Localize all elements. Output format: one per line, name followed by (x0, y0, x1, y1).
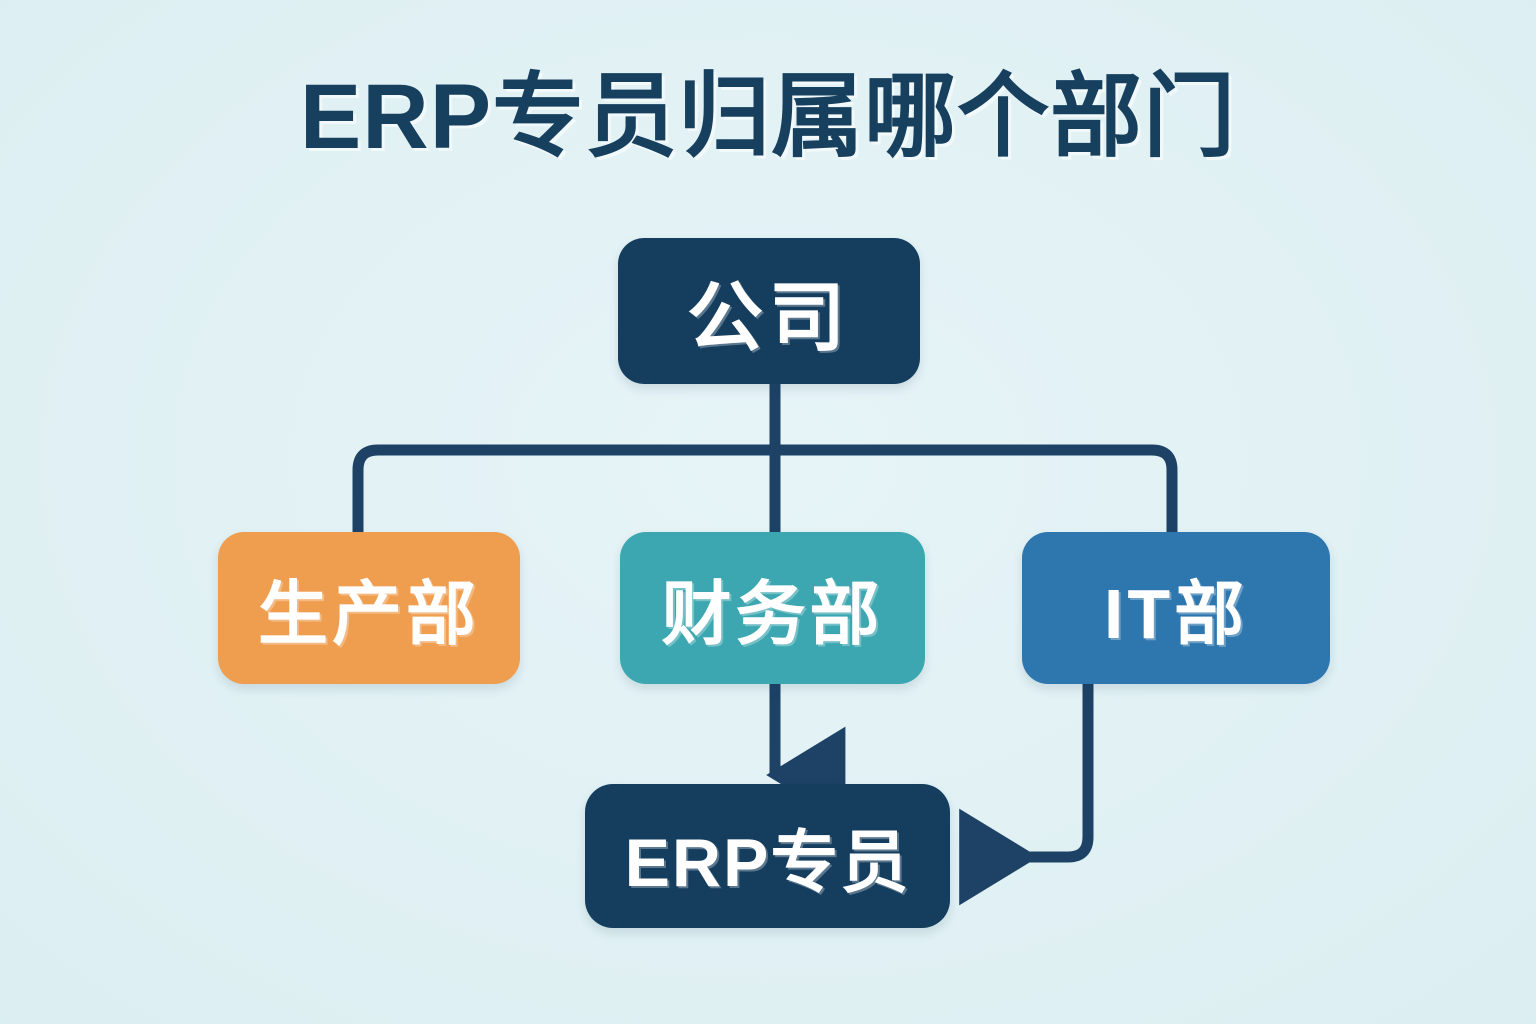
node-production[interactable]: 生产部 (218, 532, 520, 684)
node-finance-label: 财务部 (662, 558, 884, 659)
node-company-label: 公司 (687, 256, 851, 366)
edge-it-erp (968, 684, 1088, 857)
node-it[interactable]: IT部 (1022, 532, 1330, 684)
node-it-label: IT部 (1104, 558, 1248, 659)
node-company[interactable]: 公司 (618, 238, 920, 384)
node-erp-specialist-label: ERP专员 (625, 807, 911, 906)
diagram-canvas: ERP专员归属哪个部门 公司 生产部 (0, 0, 1536, 1024)
edge-bus-it (775, 450, 1172, 532)
node-finance[interactable]: 财务部 (620, 532, 925, 684)
node-production-label: 生产部 (258, 558, 480, 659)
edge-bus-production (358, 450, 775, 532)
node-erp-specialist[interactable]: ERP专员 (585, 784, 950, 928)
